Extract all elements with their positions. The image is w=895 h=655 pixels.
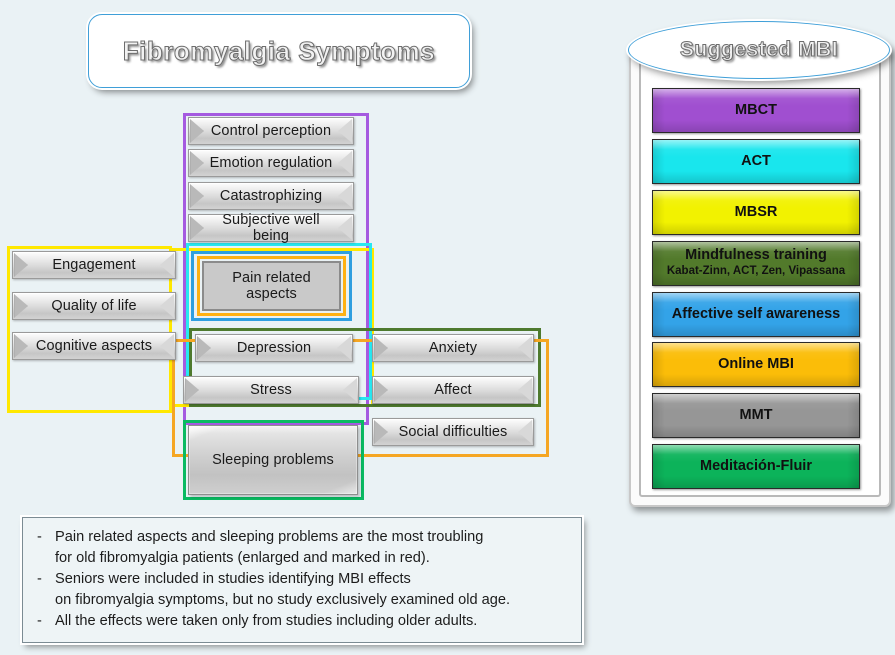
mbi-item-label: MBSR (735, 205, 778, 221)
symptom-label: Cognitive aspects (20, 338, 168, 354)
symptom-label: Affect (418, 382, 487, 398)
symptom-box-cognitive-aspects[interactable]: Cognitive aspects (12, 332, 176, 360)
bullet-marker: - (37, 569, 45, 611)
mbi-item-mindfulness-training[interactable]: Mindfulness training Kabat-Zinn, ACT, Ze… (652, 241, 860, 286)
symptom-label: Catastrophizing (204, 188, 338, 204)
symptom-box-pain-related-aspects[interactable]: Pain related aspects (202, 261, 341, 311)
mbi-item-label: Mindfulness training (685, 248, 827, 264)
mbi-item-label: MMT (739, 408, 772, 424)
bullet-marker: - (37, 527, 45, 569)
symptom-box-emotion-regulation[interactable]: Emotion regulation (188, 149, 354, 177)
symptom-box-sleeping-problems[interactable]: Sleeping problems (188, 425, 358, 495)
symptom-box-catastrophizing[interactable]: Catastrophizing (188, 182, 354, 210)
symptom-box-control-perception[interactable]: Control perception (188, 117, 354, 145)
symptom-label: Stress (234, 382, 308, 398)
symptom-box-subjective-well-being[interactable]: Subjective well being (188, 214, 354, 242)
page-title: Fibromyalgia Symptoms (88, 14, 470, 88)
mbi-item-mbsr[interactable]: MBSR (652, 190, 860, 235)
note-item: - All the effects were taken only from s… (37, 611, 567, 632)
mbi-item-mbct[interactable]: MBCT (652, 88, 860, 133)
note-text: Seniors were included in studies identif… (55, 569, 510, 611)
symptom-label: Emotion regulation (194, 155, 349, 171)
symptom-label: Anxiety (413, 340, 493, 356)
symptom-box-affect[interactable]: Affect (372, 376, 534, 404)
symptom-label: Sleeping problems (196, 452, 350, 468)
note-item: - Pain related aspects and sleeping prob… (37, 527, 567, 569)
mbi-item-label: MBCT (735, 103, 777, 119)
mbi-item-label: ACT (741, 154, 771, 170)
symptom-box-anxiety[interactable]: Anxiety (372, 334, 534, 362)
symptom-label: Depression (221, 340, 327, 356)
symptom-label: Quality of life (35, 298, 152, 314)
mbi-item-label: Meditación-Fluir (700, 459, 812, 475)
symptom-box-engagement[interactable]: Engagement (12, 251, 176, 279)
mbi-item-sublabel: Kabat-Zinn, ACT, Zen, Vipassana (667, 265, 845, 278)
page-title-text: Fibromyalgia Symptoms (123, 36, 435, 67)
symptom-box-quality-of-life[interactable]: Quality of life (12, 292, 176, 320)
symptom-label: Subjective well being (189, 212, 353, 244)
mbi-panel-title-ellipse: Suggested MBI (628, 21, 890, 79)
note-item: - Seniors were included in studies ident… (37, 569, 567, 611)
mbi-item-act[interactable]: ACT (652, 139, 860, 184)
note-text: All the effects were taken only from stu… (55, 611, 477, 632)
note-text: Pain related aspects and sleeping proble… (55, 527, 483, 569)
diagram-canvas: Fibromyalgia Symptoms Control perception… (0, 0, 895, 655)
mbi-item-label: Online MBI (718, 357, 794, 373)
symptom-label: Control perception (195, 123, 347, 139)
symptom-label: Pain related aspects (204, 270, 339, 302)
mbi-item-label: Affective self awareness (672, 307, 840, 323)
bullet-marker: - (37, 611, 45, 632)
symptom-label: Social difficulties (383, 424, 524, 440)
notes-list: - Pain related aspects and sleeping prob… (37, 527, 567, 632)
symptom-box-social-difficulties[interactable]: Social difficulties (372, 418, 534, 446)
mbi-item-online-mbi[interactable]: Online MBI (652, 342, 860, 387)
mbi-panel-title: Suggested MBI (680, 38, 838, 62)
notes-box: - Pain related aspects and sleeping prob… (22, 517, 582, 643)
symptom-label: Engagement (36, 257, 151, 273)
mbi-item-mmt[interactable]: MMT (652, 393, 860, 438)
symptom-box-stress[interactable]: Stress (183, 376, 359, 404)
mbi-item-meditacion-fluir[interactable]: Meditación-Fluir (652, 444, 860, 489)
mbi-item-affective-self-awareness[interactable]: Affective self awareness (652, 292, 860, 337)
symptom-box-depression[interactable]: Depression (195, 334, 353, 362)
